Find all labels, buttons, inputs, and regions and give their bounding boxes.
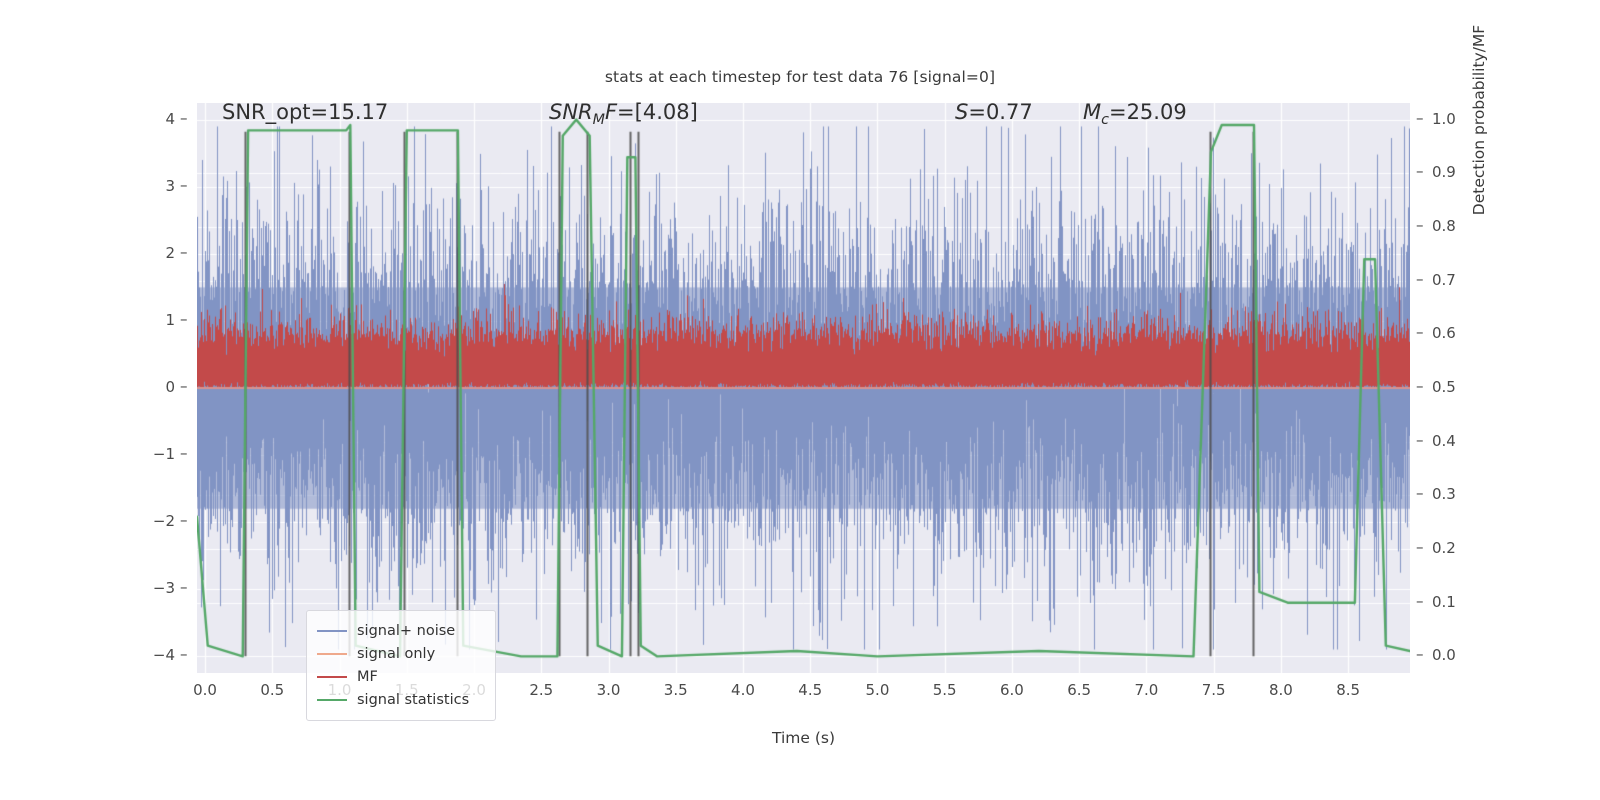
y-tick-dash-right: – [1416,109,1424,127]
y-tick-dash-right: – [1416,431,1424,449]
y-tick-label-right: 0.1 [1432,593,1456,611]
page-title: stats at each timestep for test data 76 … [0,68,1600,86]
y-tick-label-right: 0.9 [1432,163,1456,181]
y-tick-label-right: 0.6 [1432,324,1456,342]
y-tick-dash-left: – [180,377,188,395]
x-tick-label: 0.0 [189,681,221,699]
y-tick-dash-right: – [1416,162,1424,180]
y-tick-label-right: 0.4 [1432,432,1456,450]
y-tick-label-right: 0.3 [1432,485,1456,503]
annotation-snr-opt: SNR_opt=15.17 [222,100,388,124]
y-tick-label-right: 0.8 [1432,217,1456,235]
y-tick-label-left: −3 [145,579,175,597]
figure-canvas: stats at each timestep for test data 76 … [0,0,1600,800]
x-tick-label: 2.5 [525,681,557,699]
y-tick-label-right: 0.0 [1432,646,1456,664]
y-tick-label-right: 0.5 [1432,378,1456,396]
chart-plot [197,103,1410,673]
y-tick-label-left: 4 [145,110,175,128]
y-tick-dash-right: – [1416,270,1424,288]
plot-axes-area [197,103,1410,673]
x-tick-label: 8.5 [1332,681,1364,699]
y-tick-dash-right: – [1416,645,1424,663]
legend-swatch-icon [317,699,347,701]
legend-swatch-icon [317,676,347,678]
y-tick-label-left: −4 [145,646,175,664]
legend-item[interactable]: signal+ noise [317,619,485,642]
y-tick-dash-left: – [180,176,188,194]
x-tick-label: 7.5 [1198,681,1230,699]
y-tick-label-left: −1 [145,445,175,463]
x-tick-label: 5.0 [861,681,893,699]
y-tick-dash-left: – [180,243,188,261]
annotation-s-value: S=0.77 [955,100,1033,124]
y-tick-label-left: −2 [145,512,175,530]
annotation-snr-mf: SNRMF=[4.08] [549,100,698,128]
x-tick-label: 6.0 [996,681,1028,699]
y-tick-dash-right: – [1416,216,1424,234]
y-tick-dash-left: – [180,109,188,127]
x-tick-label: 8.0 [1265,681,1297,699]
annotation-mc-value: Mc=25.09 [1083,100,1187,128]
y-tick-label-left: 1 [145,311,175,329]
y-tick-label-right: 1.0 [1432,110,1456,128]
y-tick-label-right: 0.2 [1432,539,1456,557]
y-tick-label-left: 3 [145,177,175,195]
y-tick-dash-right: – [1416,592,1424,610]
legend-label: signal only [357,646,435,662]
x-tick-label: 6.5 [1063,681,1095,699]
y-tick-dash-right: – [1416,377,1424,395]
x-tick-label: 4.5 [794,681,826,699]
legend-item[interactable]: signal only [317,642,485,665]
x-axis-label: Time (s) [197,729,1410,747]
x-tick-label: 3.5 [660,681,692,699]
y-tick-dash-right: – [1416,538,1424,556]
y-tick-dash-left: – [180,645,188,663]
y-tick-dash-left: – [180,310,188,328]
x-tick-label: 5.5 [929,681,961,699]
x-tick-label: 0.5 [256,681,288,699]
legend-label: signal+ noise [357,623,455,639]
legend-item[interactable]: MF [317,665,485,688]
legend-item[interactable]: signal statistics [317,688,485,711]
x-tick-label: 7.0 [1130,681,1162,699]
chart-legend: signal+ noisesignal onlyMFsignal statist… [306,610,496,721]
y-tick-dash-left: – [180,444,188,462]
y-tick-dash-right: – [1416,484,1424,502]
y-tick-label-left: 0 [145,378,175,396]
legend-swatch-icon [317,630,347,632]
legend-label: signal statistics [357,692,469,708]
y-tick-dash-left: – [180,511,188,529]
legend-label: MF [357,669,378,685]
y-tick-dash-right: – [1416,323,1424,341]
y-tick-label-left: 2 [145,244,175,262]
y-tick-label-right: 0.7 [1432,271,1456,289]
y-tick-dash-left: – [180,578,188,596]
x-tick-label: 4.0 [727,681,759,699]
x-tick-label: 3.0 [593,681,625,699]
legend-swatch-icon [317,653,347,655]
y-axis-label-right: Detection probability/MF [1470,0,1488,250]
